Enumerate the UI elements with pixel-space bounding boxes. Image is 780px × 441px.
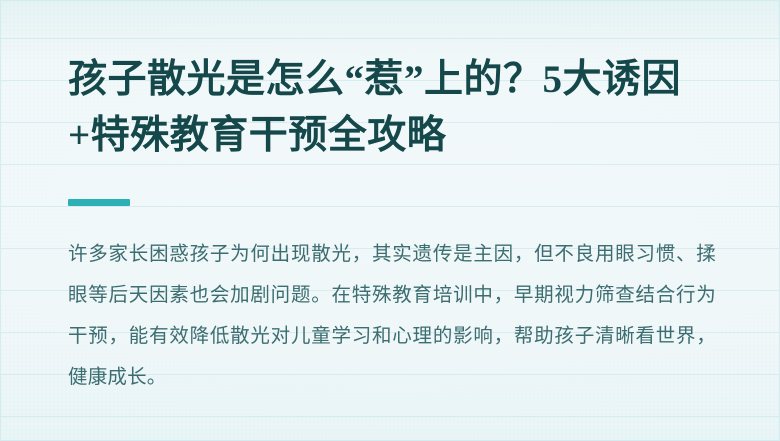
accent-divider	[68, 199, 130, 206]
page-title: 孩子散光是怎么“惹”上的？5大诱因+特殊教育干预全攻略	[68, 52, 728, 164]
content-column: 孩子散光是怎么“惹”上的？5大诱因+特殊教育干预全攻略 许多家长困惑孩子为何出现…	[68, 0, 718, 441]
slide-canvas: 孩子散光是怎么“惹”上的？5大诱因+特殊教育干预全攻略 许多家长困惑孩子为何出现…	[0, 0, 780, 441]
body-paragraph: 许多家长困惑孩子为何出现散光，其实遗传是主因，但不良用眼习惯、揉眼等后天因素也会…	[68, 234, 716, 398]
